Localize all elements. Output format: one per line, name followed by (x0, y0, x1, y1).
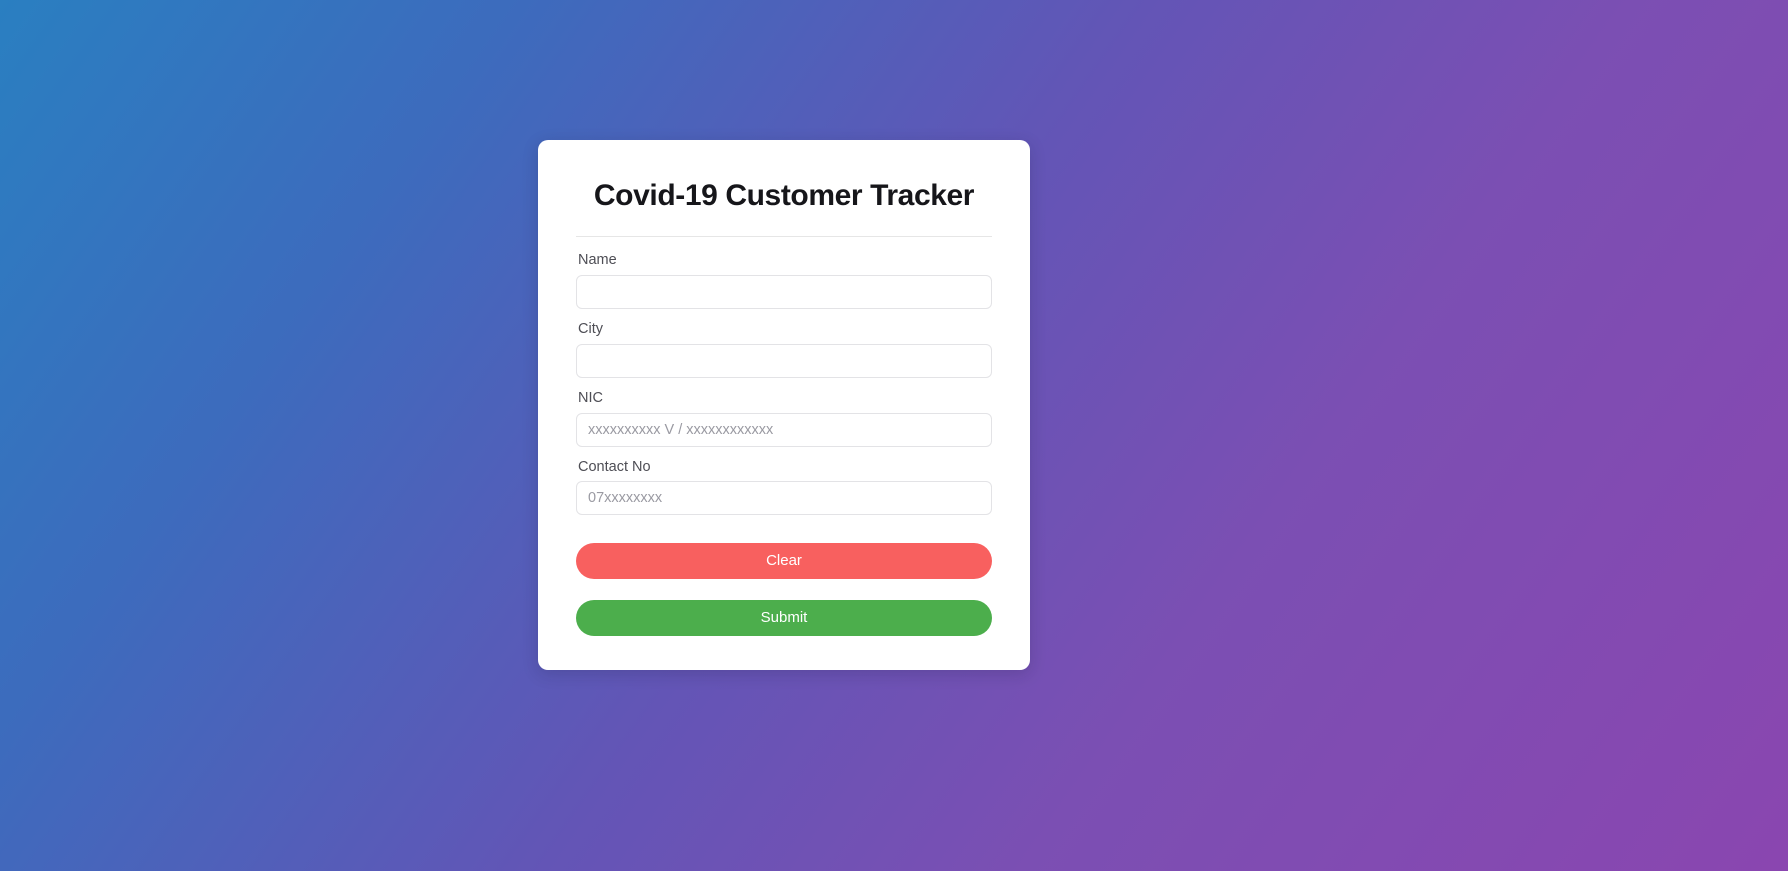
city-input[interactable] (576, 344, 992, 378)
field-nic: NIC (576, 389, 992, 447)
field-name: Name (576, 251, 992, 309)
field-label-name: Name (578, 251, 992, 270)
field-label-contact-no: Contact No (578, 458, 992, 477)
submit-button[interactable]: Submit (576, 600, 992, 636)
field-contact-no: Contact No (576, 458, 992, 516)
field-city: City (576, 320, 992, 378)
contact-no-input[interactable] (576, 481, 992, 515)
field-label-city: City (578, 320, 992, 339)
nic-input[interactable] (576, 413, 992, 447)
tracker-card: Covid-19 Customer Tracker Name City NIC … (538, 140, 1030, 670)
form-actions: Clear Submit (576, 526, 992, 636)
clear-button[interactable]: Clear (576, 543, 992, 579)
name-input[interactable] (576, 275, 992, 309)
field-label-nic: NIC (578, 389, 992, 408)
customer-form: Name City NIC Contact No Clear Submit (576, 237, 992, 636)
page-title: Covid-19 Customer Tracker (576, 170, 992, 214)
page-root: Covid-19 Customer Tracker Name City NIC … (0, 0, 1788, 871)
